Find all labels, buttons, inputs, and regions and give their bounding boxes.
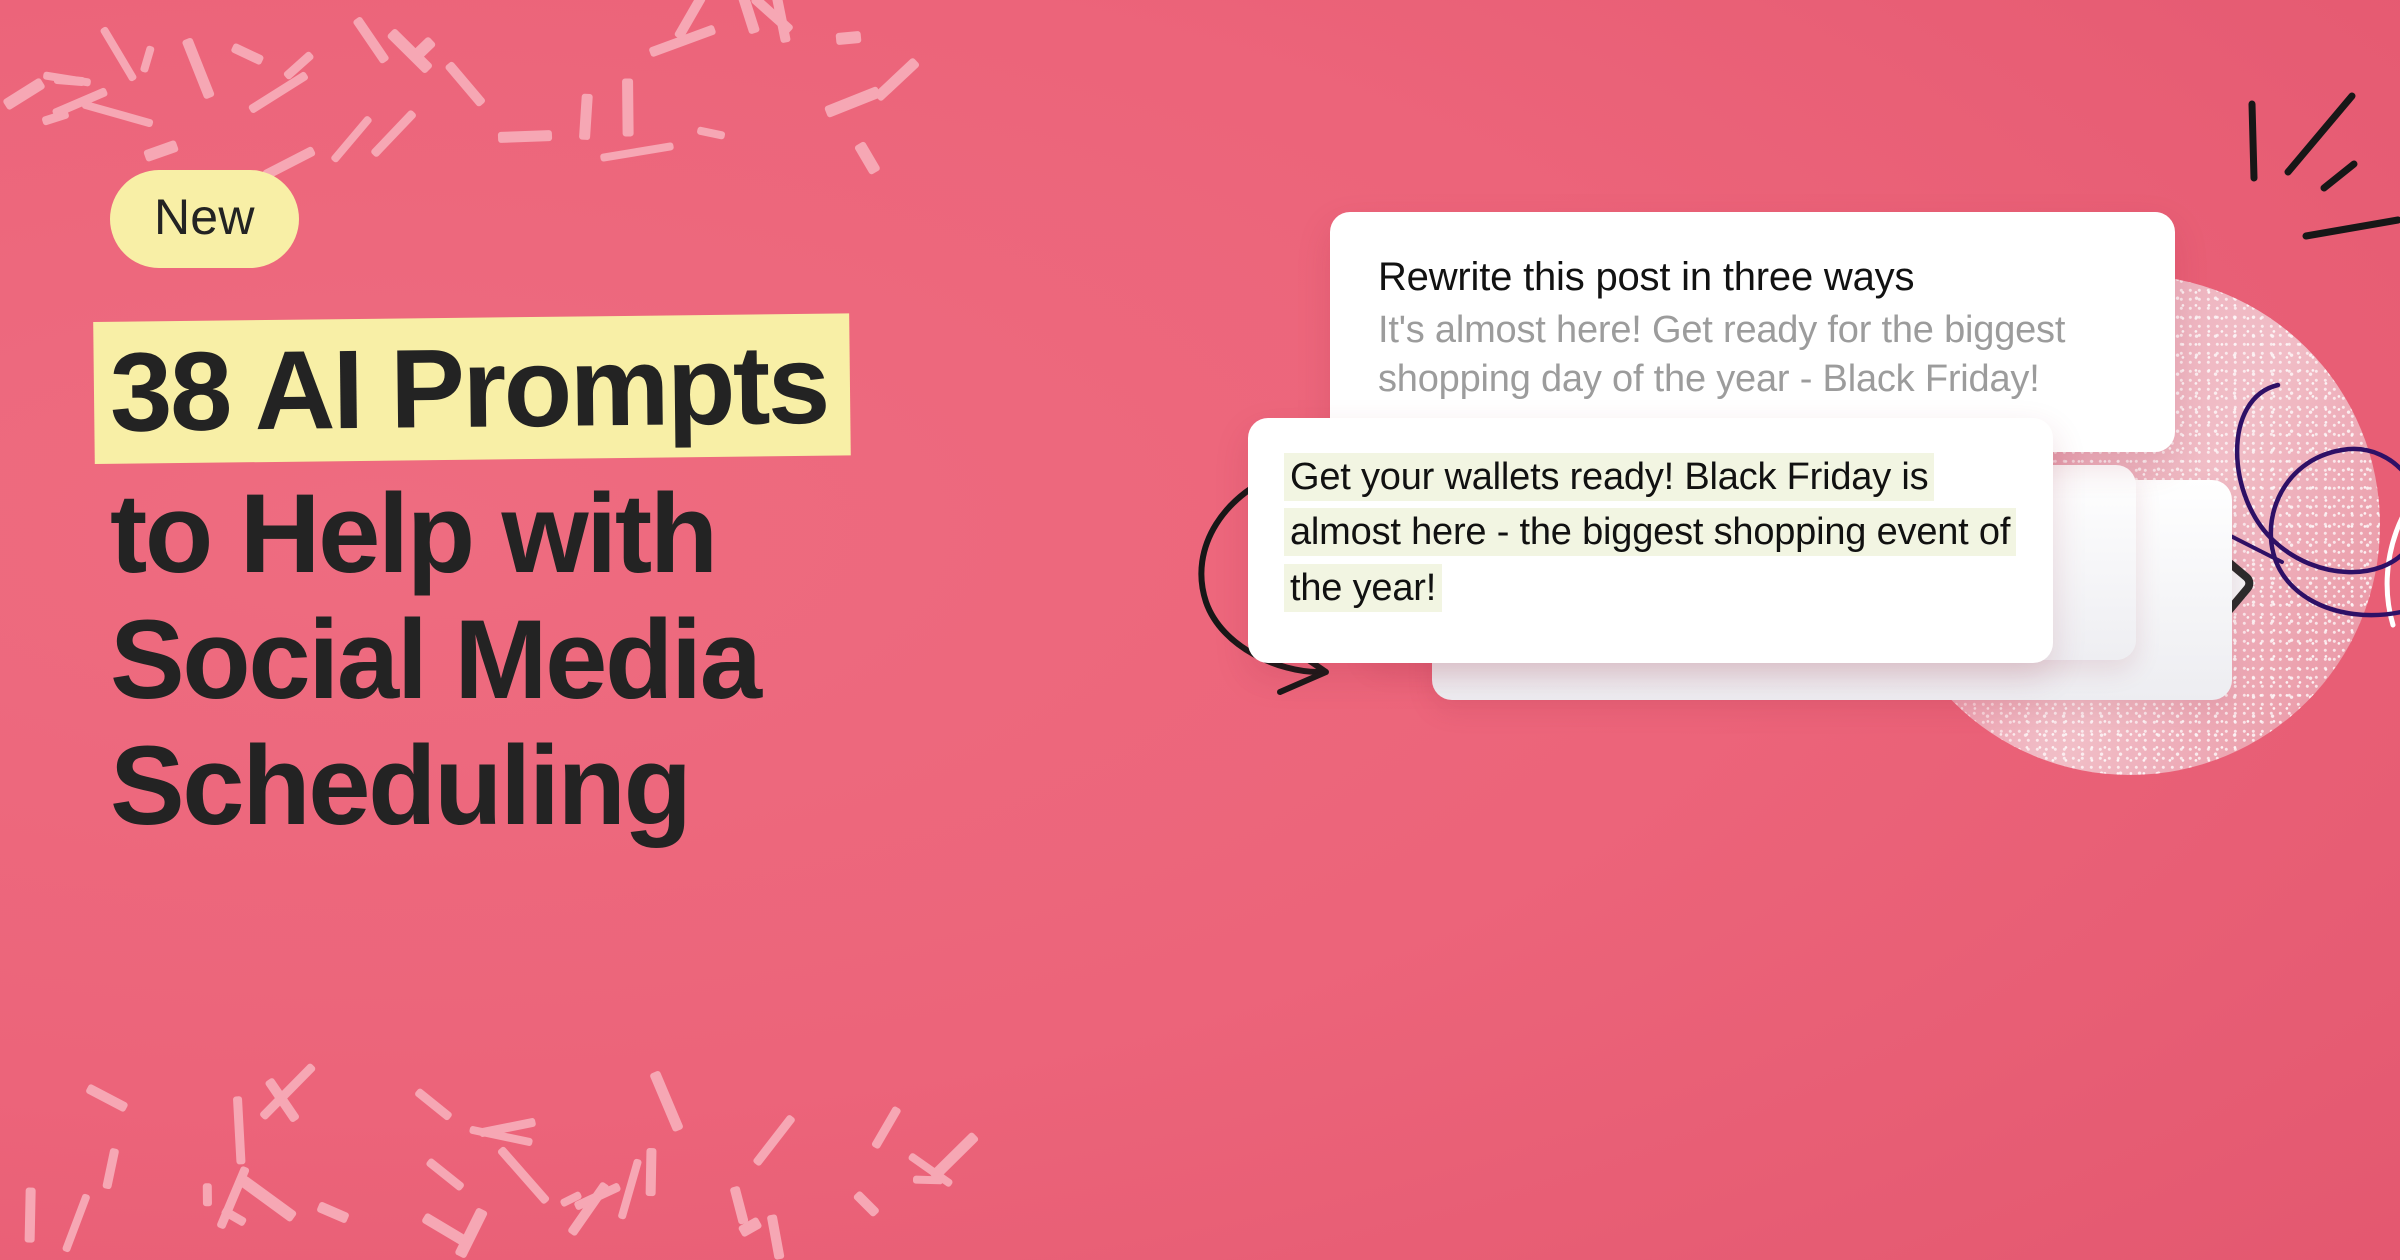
new-badge: New xyxy=(110,170,299,268)
ai-prompt-card[interactable]: Rewrite this post in three ways It's alm… xyxy=(1330,212,2175,452)
result-text-wrapper: Get your wallets ready! Black Friday is … xyxy=(1284,450,2017,616)
confetti-pattern-top xyxy=(0,0,1000,190)
prompt-body: It's almost here! Get ready for the bigg… xyxy=(1378,306,2127,403)
headline-line-1: 38 AI Prompts xyxy=(93,313,850,464)
headline-line-2: to Help with xyxy=(110,478,1150,590)
confetti-pattern-bottom xyxy=(0,1085,1000,1260)
sparkle-icon xyxy=(2210,78,2400,298)
result-text: Get your wallets ready! Black Friday is … xyxy=(1284,453,2016,612)
headline-line-3: Social Media xyxy=(110,604,1150,716)
hero-banner: New 38 AI Prompts to Help with Social Me… xyxy=(0,0,2400,1260)
headline-line-4: Scheduling xyxy=(110,730,1150,842)
hero-illustration: Rewrite this post in three ways It's alm… xyxy=(1180,0,2400,1260)
hero-copy: New 38 AI Prompts to Help with Social Me… xyxy=(110,170,1150,842)
ai-result-card[interactable]: Get your wallets ready! Black Friday is … xyxy=(1248,418,2053,663)
page-title: 38 AI Prompts to Help with Social Media … xyxy=(110,322,1150,842)
prompt-title: Rewrite this post in three ways xyxy=(1378,254,2127,300)
